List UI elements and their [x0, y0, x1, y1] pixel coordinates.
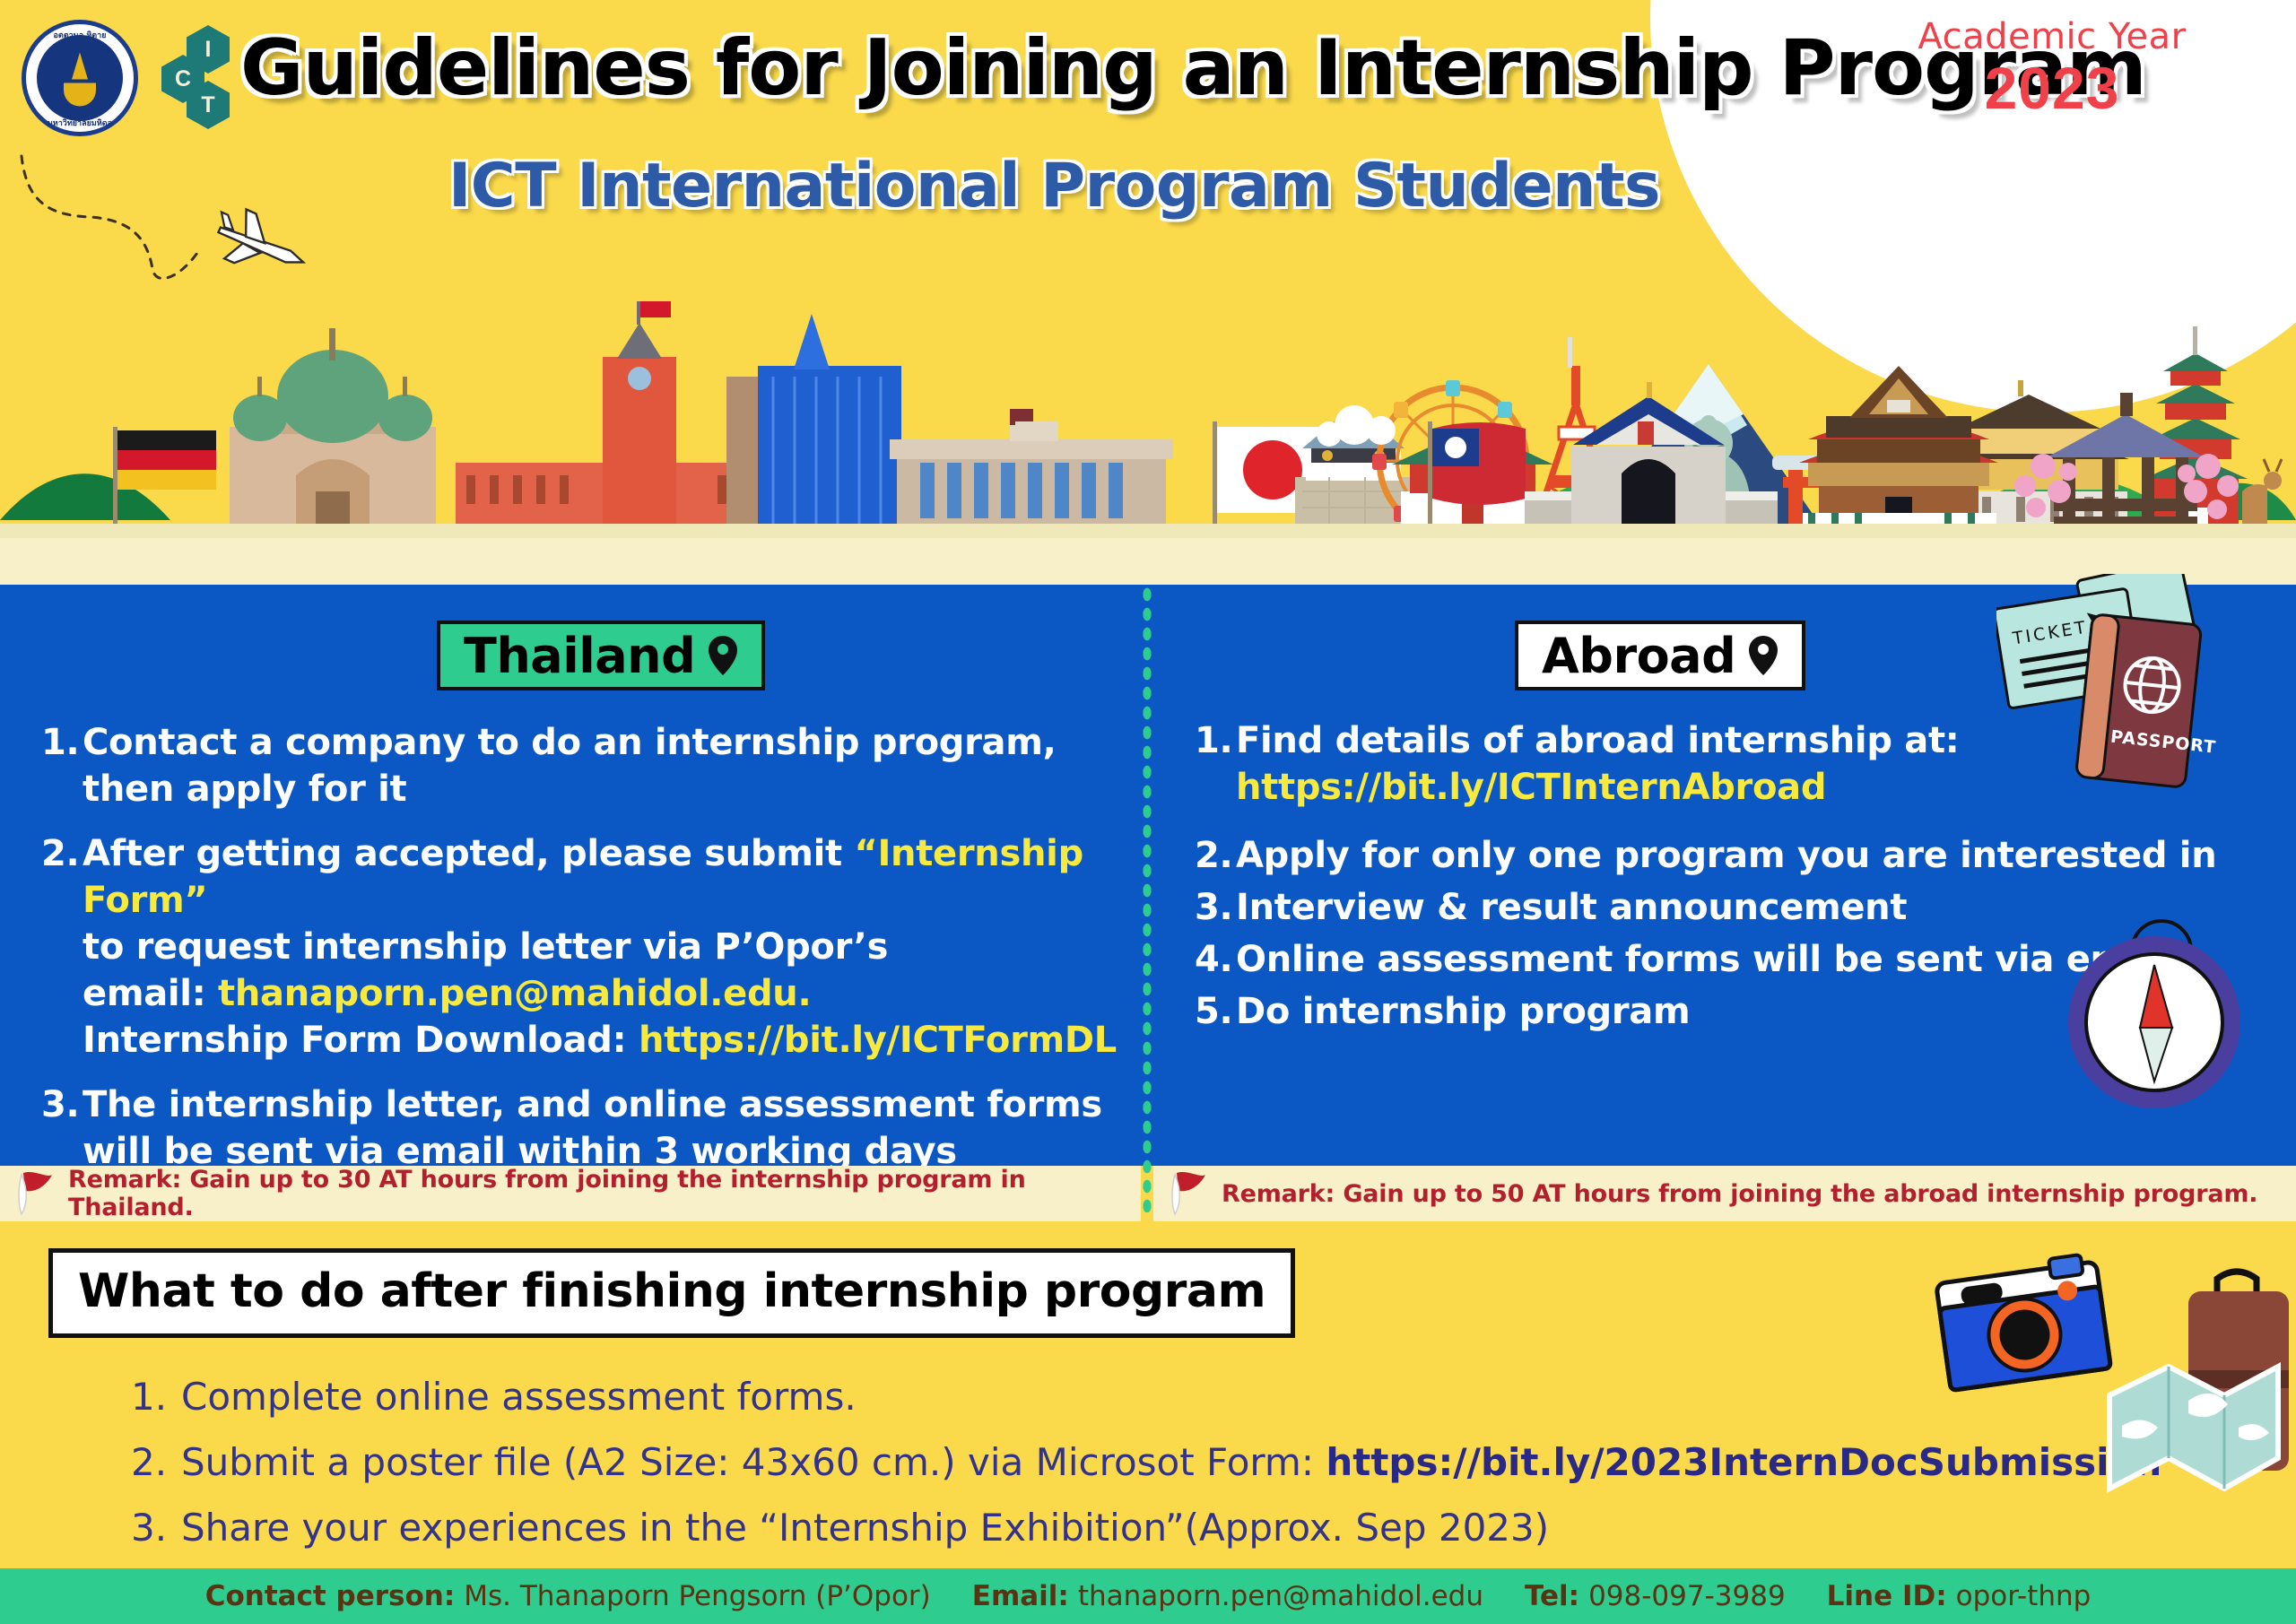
thailand-badge: Thailand: [437, 621, 765, 690]
header-banner: อตตานอ หิตาย มหาวิทยาลัยมหิดล I C T Guid…: [0, 0, 2296, 538]
contact-person-label: Contact person:: [205, 1580, 456, 1612]
mahidol-seal-logo: อตตานอ หิตาย มหาวิทยาลัยมหิดล: [22, 20, 138, 136]
email-value: thanaporn.pen@mahidol.edu: [1078, 1580, 1483, 1612]
tel-label: Tel:: [1525, 1580, 1579, 1612]
email-group: Email: thanaporn.pen@mahidol.edu: [972, 1580, 1483, 1612]
red-flag-icon: [1170, 1169, 1209, 1218]
thailand-remark: Remark: Gain up to 30 AT hours from join…: [0, 1166, 1141, 1221]
location-pin-icon: [708, 635, 738, 676]
torii-gate-icon: [1772, 456, 1907, 525]
seal-bottom-text: มหาวิทยาลัยมหิดล: [22, 117, 138, 129]
sensoji-temple-icon: [1392, 427, 1553, 525]
red-flag-icon: [16, 1169, 56, 1218]
contact-person-group: Contact person: Ms. Thanaporn Pengsorn (…: [205, 1580, 931, 1612]
pagoda-icon: [2144, 326, 2248, 525]
list-item: 2.Submit a poster file (A2 Size: 43x60 c…: [131, 1439, 2212, 1485]
ground-strip: [0, 524, 2296, 538]
line-id-group: Line ID: opor-thnp: [1827, 1580, 2092, 1612]
brandenburg-gate-icon: [890, 409, 1173, 525]
contact-person-value: Ms. Thanaporn Pengsorn (P’Opor): [464, 1580, 931, 1612]
world-landmarks-illustration: [0, 251, 2296, 538]
location-pin-icon: [1748, 635, 1779, 676]
tokyo-tower-icon: [1535, 337, 1616, 525]
academic-year-value: 2023: [1864, 57, 2240, 119]
seal-crest-icon: [59, 52, 100, 108]
berlin-skyscraper-icon: [726, 314, 901, 525]
line-id-value: opor-thnp: [1956, 1580, 2092, 1612]
academic-year-label: Academic Year: [1864, 16, 2240, 57]
abroad-remark: Remark: Gain up to 50 AT hours from join…: [1153, 1166, 2296, 1221]
list-item: 3.The internship letter, and online asse…: [41, 1081, 1118, 1175]
tel-group: Tel: 098-097-3989: [1525, 1580, 1786, 1612]
after-internship-title: What to do after finishing internship pr…: [78, 1264, 1265, 1318]
list-item: 1.Contact a company to do an internship …: [41, 719, 1118, 812]
list-item: 2.After getting accepted, please submit …: [41, 830, 1118, 1064]
camera-map-suitcase-illustration: [1919, 1238, 2296, 1533]
ict-logo: I C T: [158, 25, 235, 126]
page-subtitle: ICT International Program Students: [448, 151, 1973, 221]
line-id-label: Line ID:: [1827, 1580, 1947, 1612]
list-item: 2.Apply for only one program you are int…: [1195, 832, 2253, 879]
thailand-badge-label: Thailand: [464, 628, 695, 684]
column-divider-dotted: [1141, 585, 1153, 1212]
academic-year-badge: Academic Year 2023: [1864, 16, 2240, 119]
email-label: Email:: [972, 1580, 1069, 1612]
abroad-remark-text: Remark: Gain up to 50 AT hours from join…: [1222, 1180, 2257, 1208]
thailand-remark-text: Remark: Gain up to 30 AT hours from join…: [68, 1166, 1141, 1221]
after-internship-title-box: What to do after finishing internship pr…: [48, 1248, 1295, 1338]
ticket-passport-illustration: TICKET TICKET PASSPORT: [1996, 574, 2296, 798]
tel-value: 098-097-3989: [1588, 1580, 1786, 1612]
folded-map-icon: [2109, 1367, 2278, 1489]
page-title: Guidelines for Joining an Internship Pro…: [240, 23, 1944, 113]
after-internship-steps-list: 1.Complete online assessment forms. 2.Su…: [131, 1374, 2212, 1571]
after-internship-section: What to do after finishing internship pr…: [0, 1221, 2296, 1568]
kinkakuji-icon: [1928, 380, 2129, 525]
abroad-badge: Abroad: [1515, 621, 1805, 690]
cream-separator-strip: [0, 538, 2296, 585]
list-item: 3.Share your experiences in the “Interns…: [131, 1505, 2212, 1550]
berlin-cathedral-icon: [230, 328, 436, 525]
seal-top-text: อตตานอ หิตาย: [22, 29, 138, 41]
abroad-badge-label: Abroad: [1542, 628, 1735, 684]
infographic-poster: อตตานอ หิตาย มหาวิทยาลัยมหิดล I C T Guid…: [0, 0, 2296, 1624]
compass-illustration: [2054, 906, 2269, 1130]
contact-footer: Contact person: Ms. Thanaporn Pengsorn (…: [0, 1568, 2296, 1624]
remarks-row: Remark: Gain up to 30 AT hours from join…: [0, 1166, 2296, 1221]
list-item: 1.Complete online assessment forms.: [131, 1374, 2212, 1420]
